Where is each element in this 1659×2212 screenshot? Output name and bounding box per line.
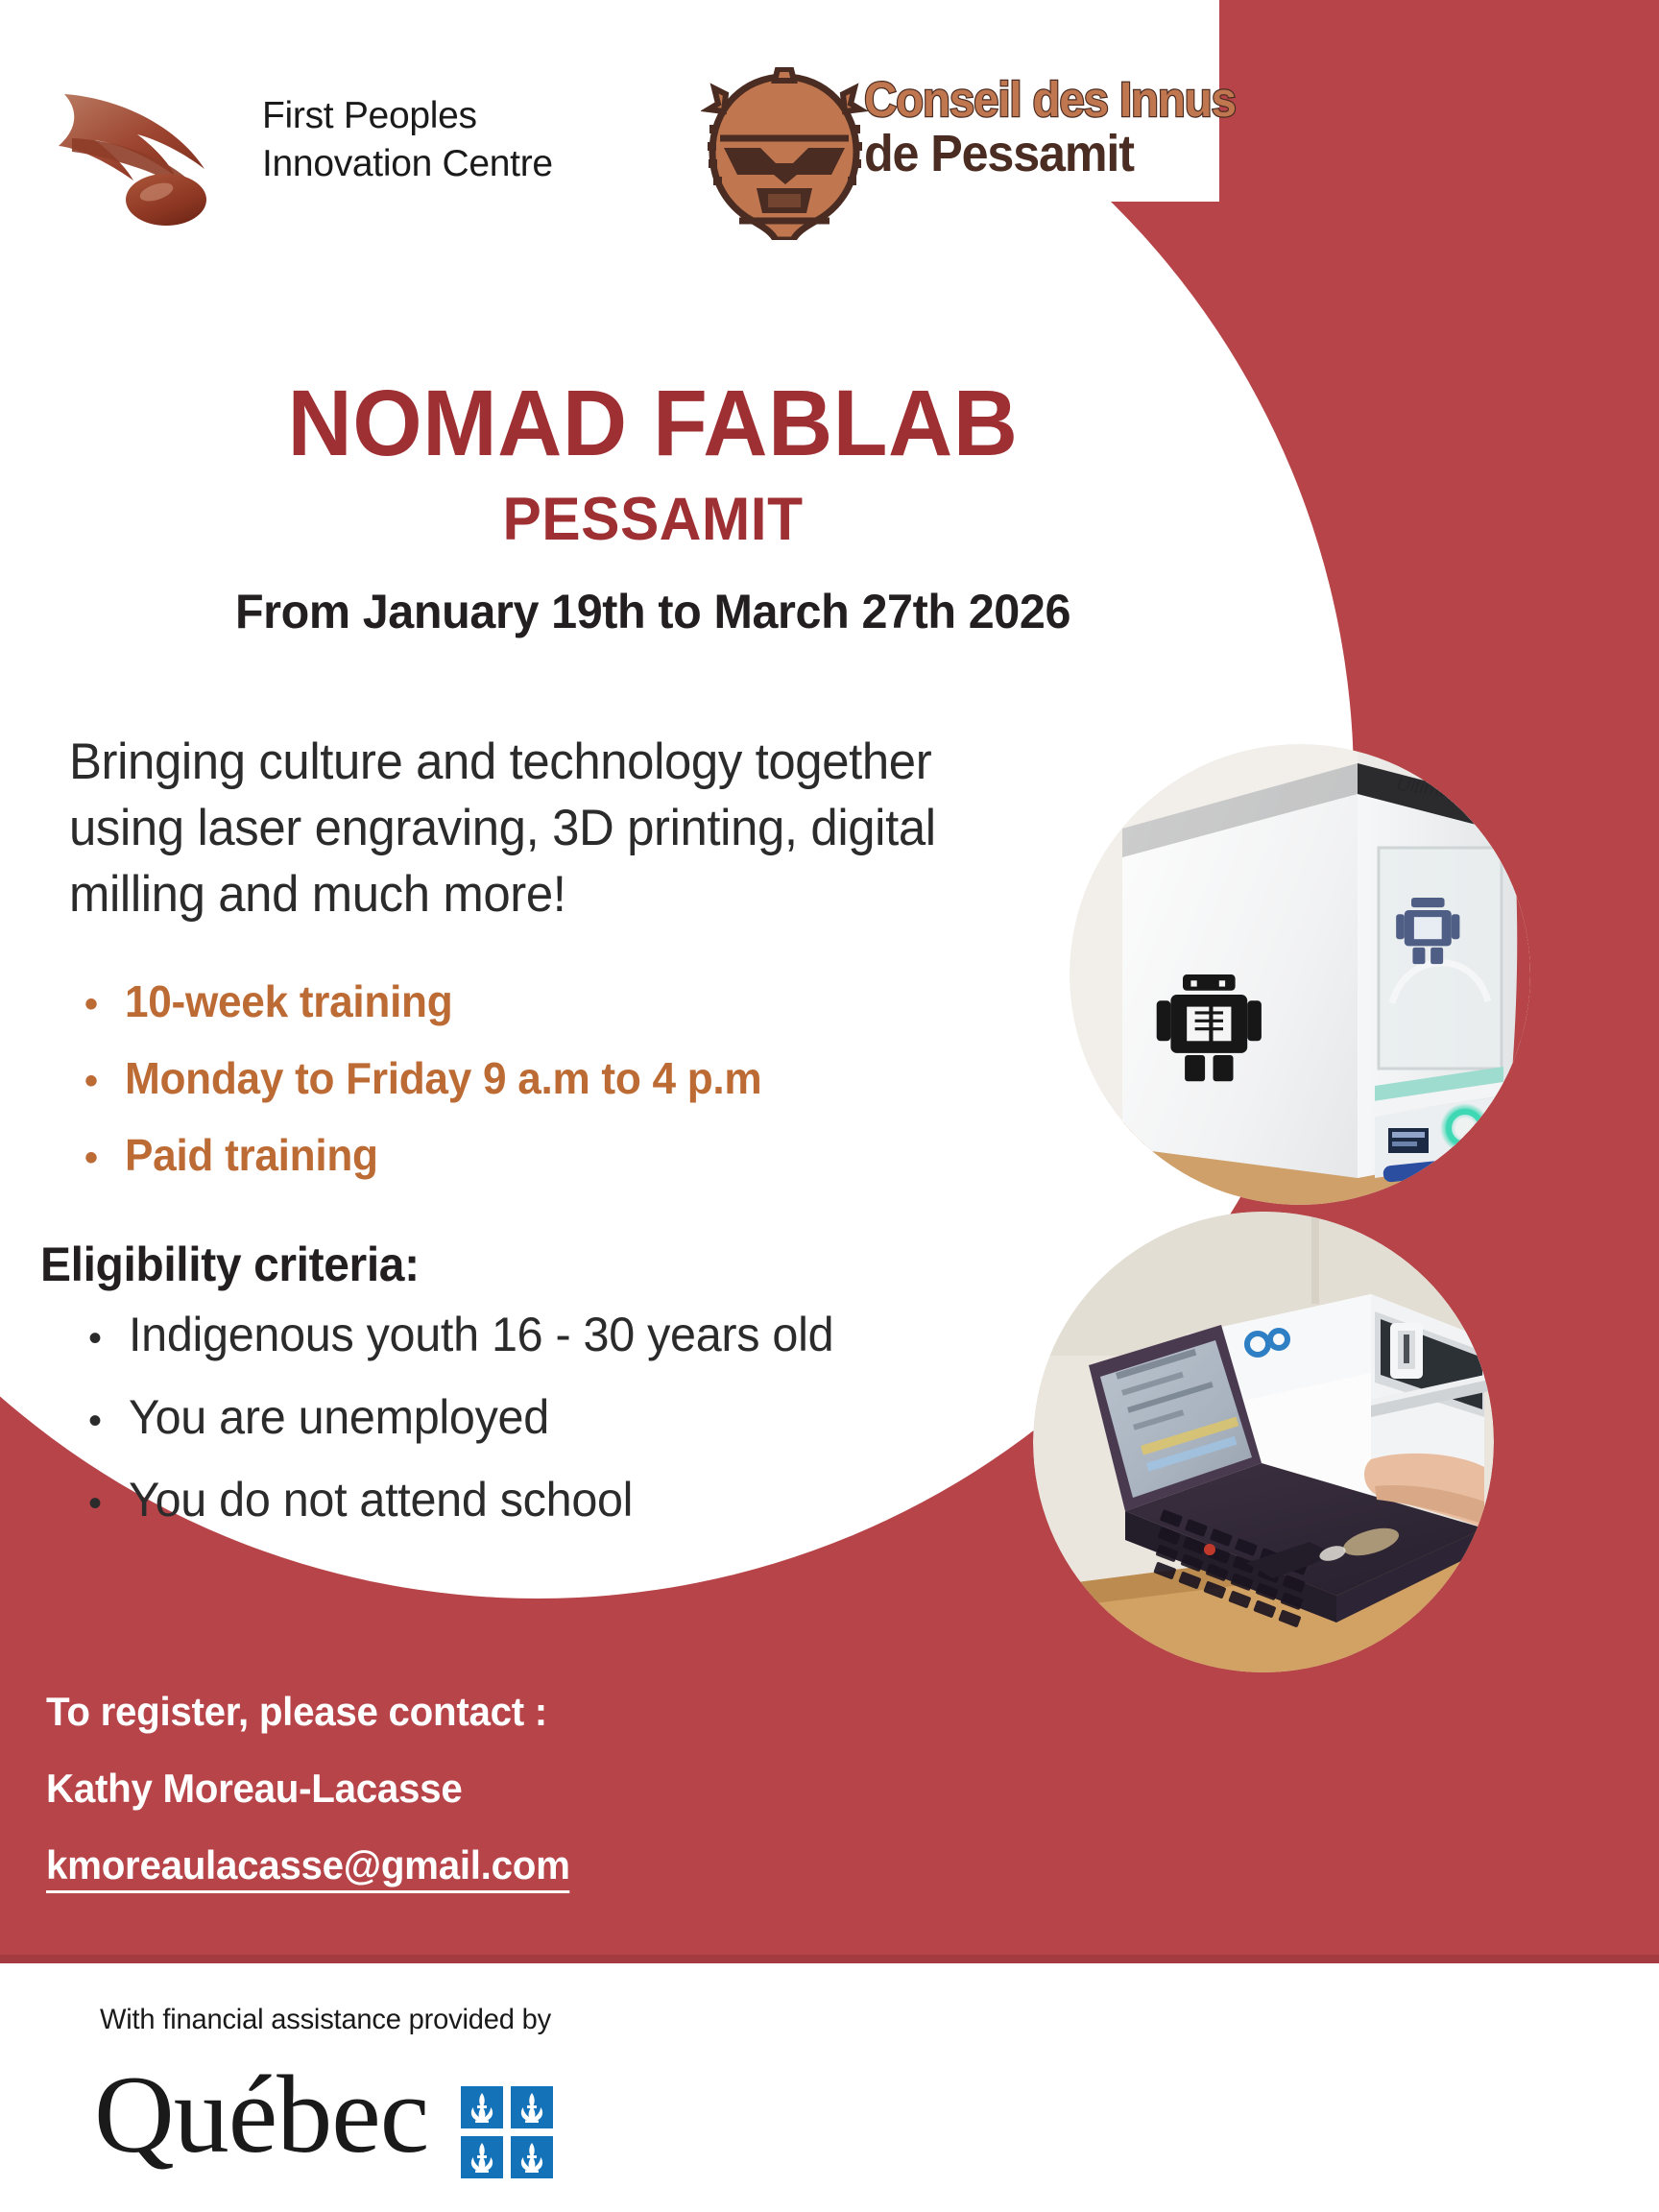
list-item: • Indigenous youth 16 - 30 years old	[88, 1310, 1087, 1358]
footer: With financial assistance provided by Qu…	[0, 1963, 1659, 2212]
bullet-icon: •	[84, 1062, 125, 1100]
header-logos: First Peoples Innovation Centre	[0, 0, 1344, 288]
photo-3d-printer: Ultimaker	[1070, 744, 1530, 1205]
page-subtitle: PESSAMIT	[26, 487, 1280, 553]
photo-laptop-cutter	[1033, 1212, 1494, 1672]
innu-drum-face-icon	[701, 67, 869, 240]
eligibility-label: Indigenous youth 16 - 30 years old	[129, 1310, 833, 1358]
leaf-seed-icon	[53, 77, 245, 230]
eligibility-heading: Eligibility criteria:	[40, 1237, 420, 1292]
first-peoples-logo-text: First Peoples Innovation Centre	[262, 92, 553, 188]
title-block: NOMAD FABLAB PESSAMIT From January 19th …	[0, 374, 1306, 638]
poster-canvas: First Peoples Innovation Centre	[0, 0, 1659, 2212]
feature-label: Monday to Friday 9 a.m to 4 p.m	[125, 1056, 761, 1100]
bullet-icon: •	[88, 1484, 129, 1523]
list-item: • Monday to Friday 9 a.m to 4 p.m	[84, 1056, 1102, 1100]
conseil-logo-line2: de Pessamit	[864, 128, 1266, 180]
eligibility-label: You are unemployed	[129, 1393, 549, 1441]
eligibility-label: You do not attend school	[129, 1476, 633, 1524]
footer-caption: With financial assistance provided by	[100, 2004, 551, 2036]
list-item: • You do not attend school	[88, 1476, 1087, 1524]
contact-email-link[interactable]: kmoreaulacasse@gmail.com	[46, 1845, 570, 1893]
feature-label: Paid training	[125, 1133, 378, 1177]
contact-name: Kathy Moreau-Lacasse	[46, 1768, 876, 1809]
quebec-wordmark: Québec	[94, 2059, 428, 2171]
intro-paragraph: Bringing culture and technology together…	[69, 730, 1009, 928]
contact-intro: To register, please contact :	[46, 1692, 876, 1732]
program-dates: From January 19th to March 27th 2026	[19, 586, 1286, 638]
feature-list: • 10-week training • Monday to Friday 9 …	[84, 979, 1102, 1210]
bullet-icon: •	[88, 1319, 129, 1358]
feature-label: 10-week training	[125, 979, 452, 1023]
quebec-fleur-de-lis-icon	[461, 2086, 553, 2178]
bullet-icon: •	[88, 1402, 129, 1440]
first-peoples-innovation-centre-logo: First Peoples Innovation Centre	[53, 77, 629, 230]
conseil-des-innus-de-pessamit-logo: Conseil des Innus de Pessamit	[701, 67, 1296, 240]
conseil-logo-line1: Conseil des Innus	[864, 75, 1266, 124]
list-item: • You are unemployed	[88, 1393, 1087, 1441]
eligibility-list: • Indigenous youth 16 - 30 years old • Y…	[88, 1310, 1087, 1558]
quebec-government-logo: Québec	[94, 2059, 632, 2184]
bullet-icon: •	[84, 1139, 125, 1177]
list-item: • Paid training	[84, 1133, 1102, 1177]
page-title: NOMAD FABLAB	[26, 374, 1280, 473]
list-item: • 10-week training	[84, 979, 1102, 1023]
bullet-icon: •	[84, 985, 125, 1023]
